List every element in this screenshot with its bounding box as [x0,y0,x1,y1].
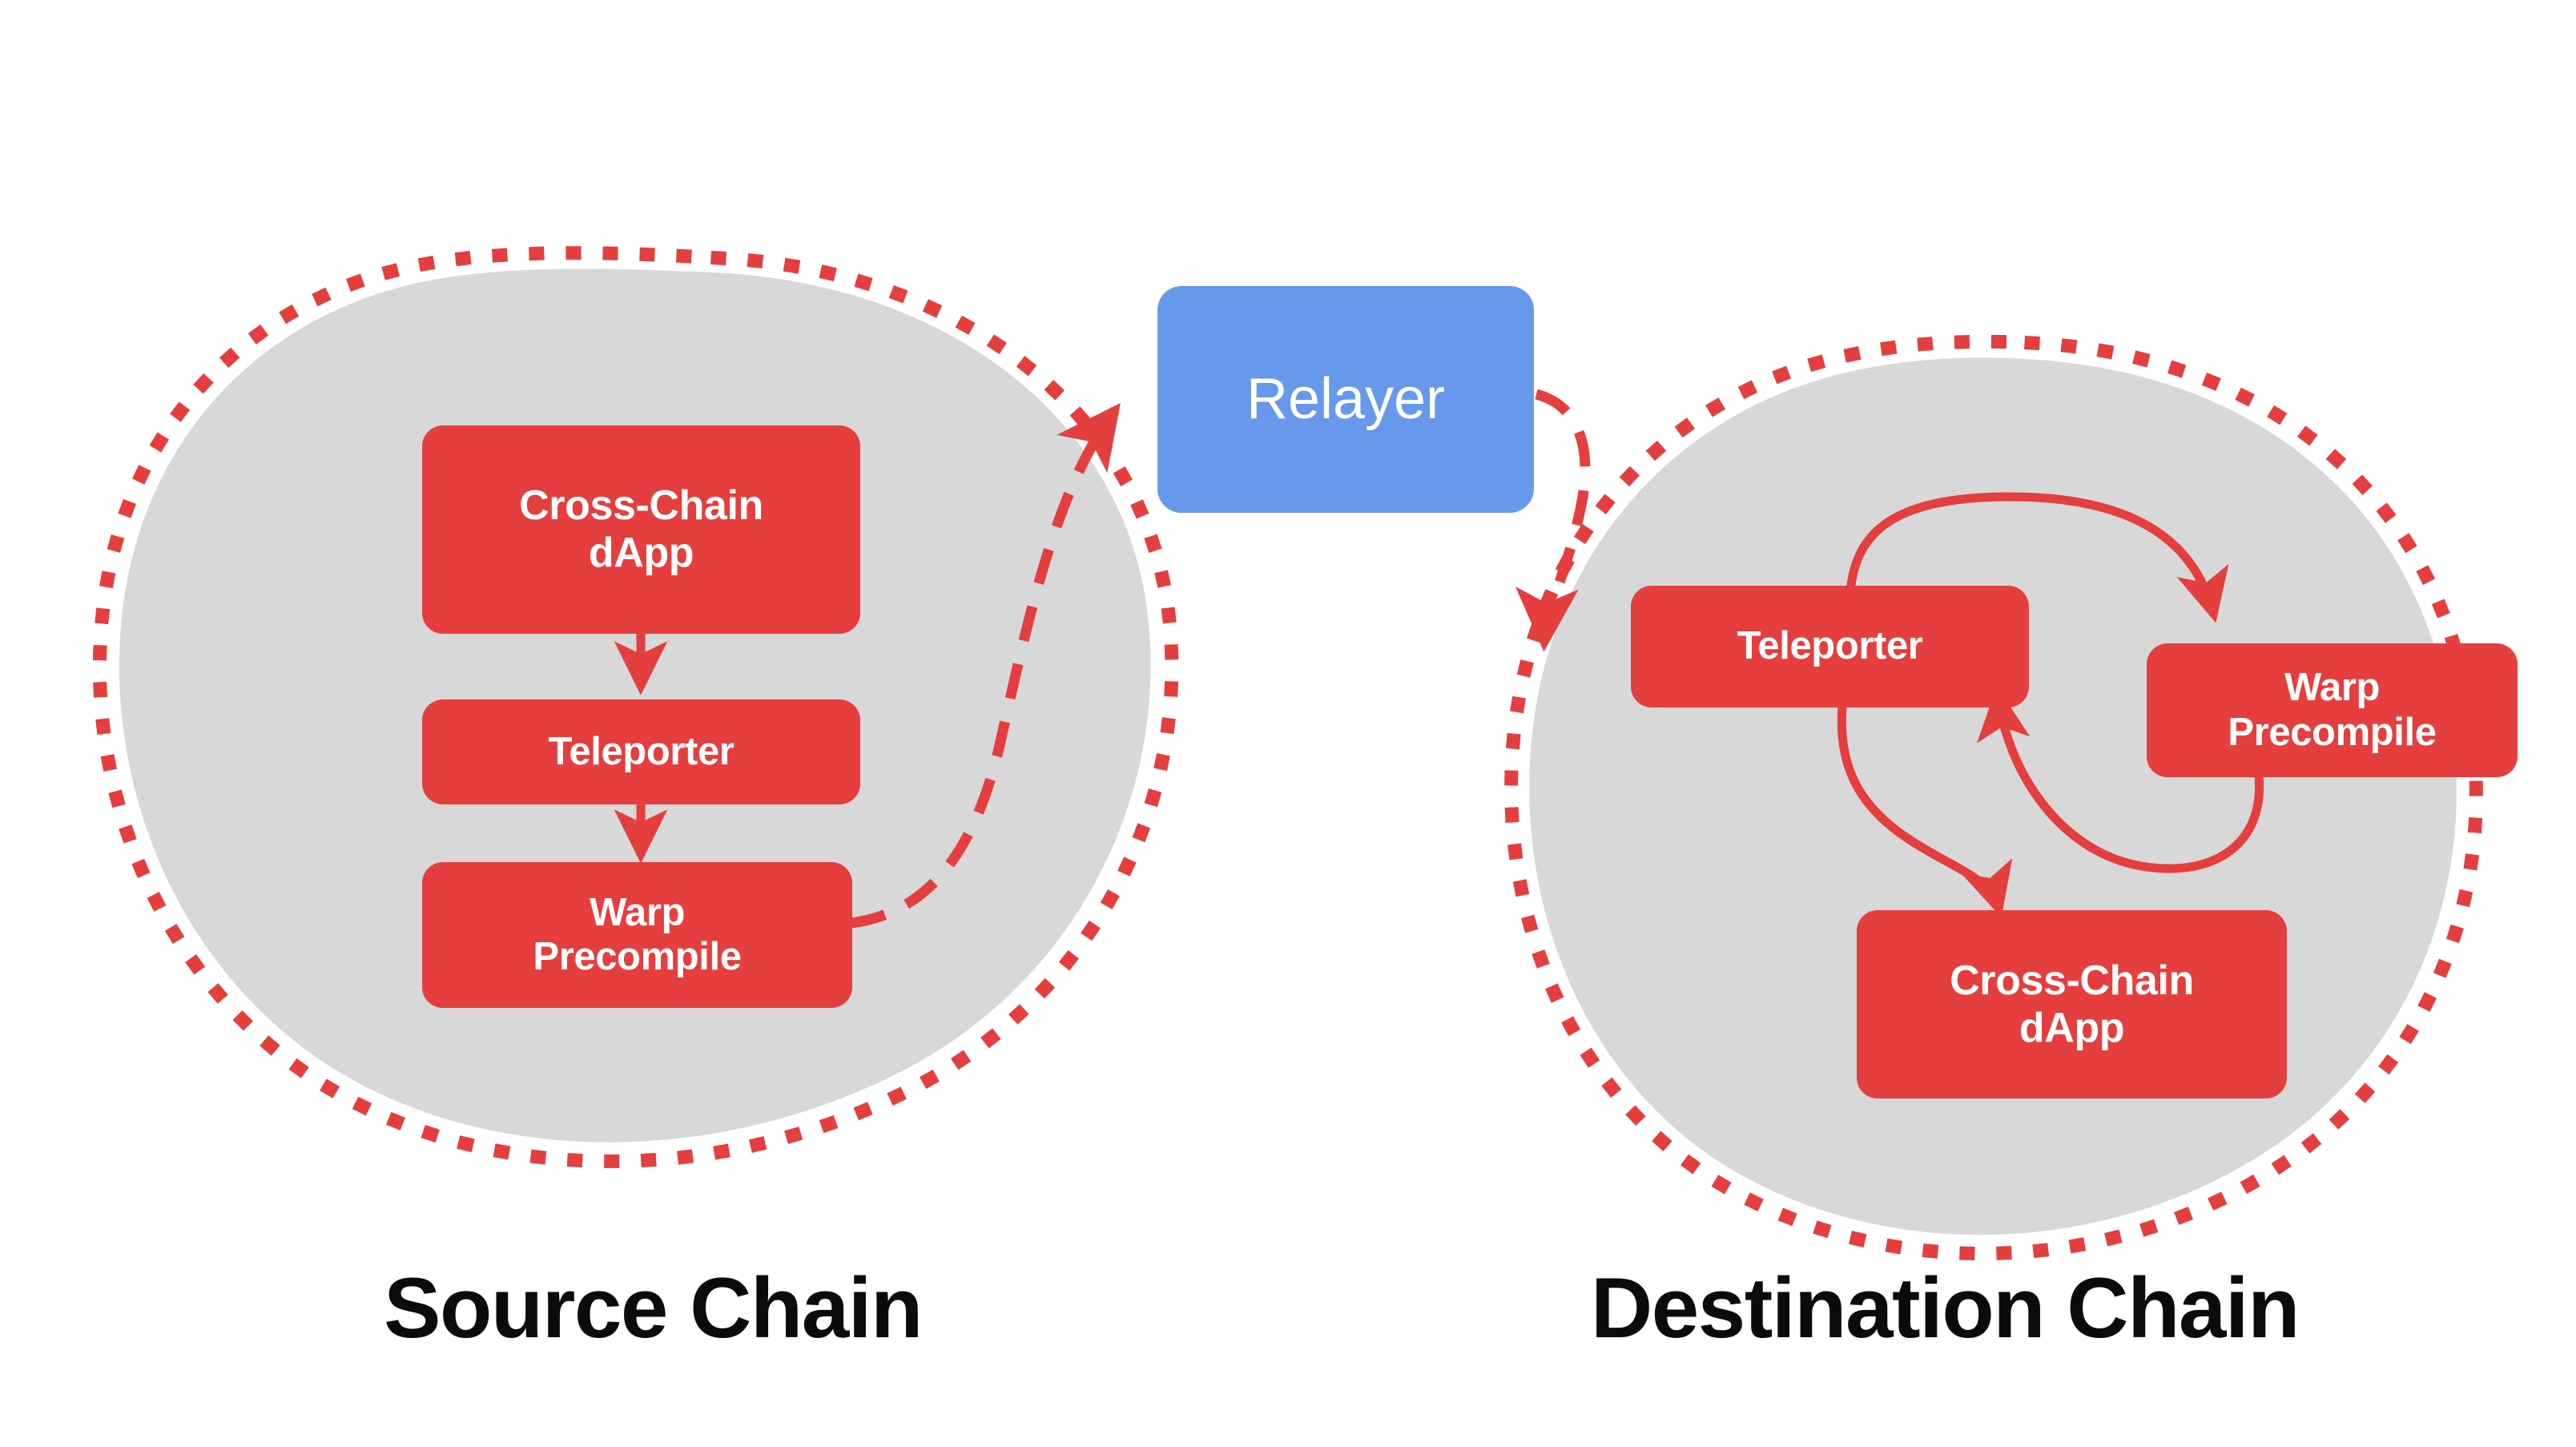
destination-chain-fill [1529,357,2457,1235]
destination-chain-label: Destination Chain [1314,1258,2576,1357]
source-chain-label: Source Chain [0,1258,1306,1357]
source-node-teleporter[interactable]: Teleporter [422,699,860,804]
destination-node-cross-chain-dapp[interactable]: Cross-Chain dApp [1857,910,2287,1098]
diagram-canvas: Cross-Chain dApp Teleporter Warp Precomp… [0,0,2576,1447]
destination-node-teleporter[interactable]: Teleporter [1631,586,2029,707]
relayer-node[interactable]: Relayer [1157,286,1534,513]
source-node-cross-chain-dapp[interactable]: Cross-Chain dApp [422,425,860,634]
destination-node-warp-precompile[interactable]: Warp Precompile [2147,643,2518,777]
destination-chain-region [1511,341,2477,1253]
source-node-warp-precompile[interactable]: Warp Precompile [422,862,852,1008]
